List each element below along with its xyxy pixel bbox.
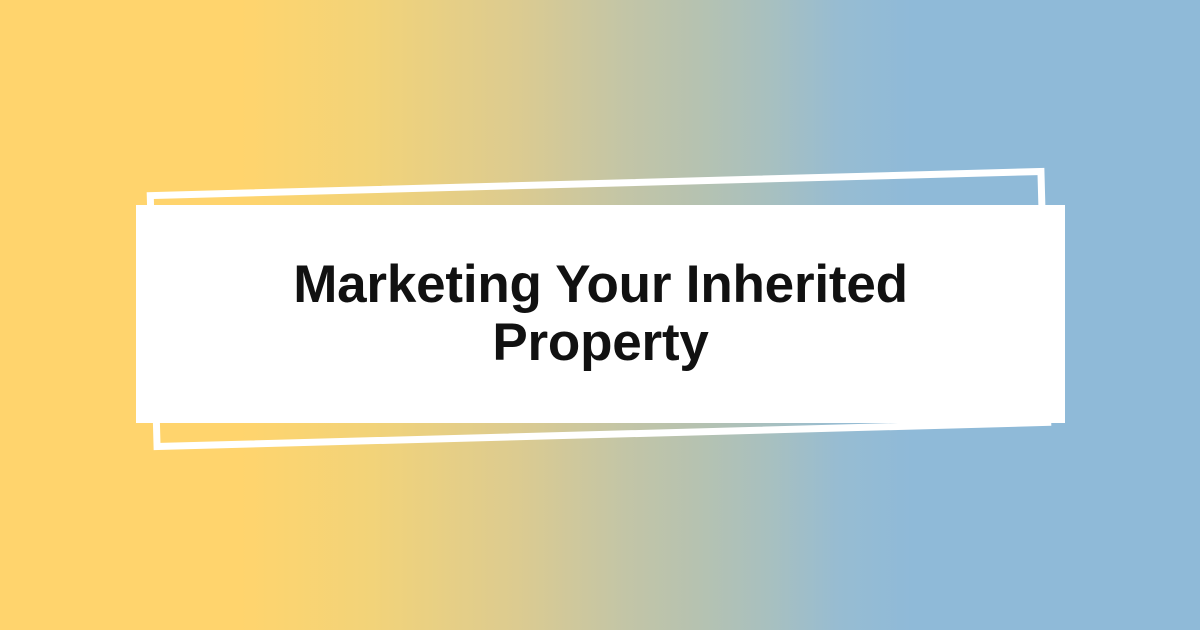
banner-canvas: Marketing Your Inherited Property — [0, 0, 1200, 630]
page-title: Marketing Your Inherited Property — [271, 256, 931, 372]
title-card: Marketing Your Inherited Property — [136, 205, 1065, 423]
